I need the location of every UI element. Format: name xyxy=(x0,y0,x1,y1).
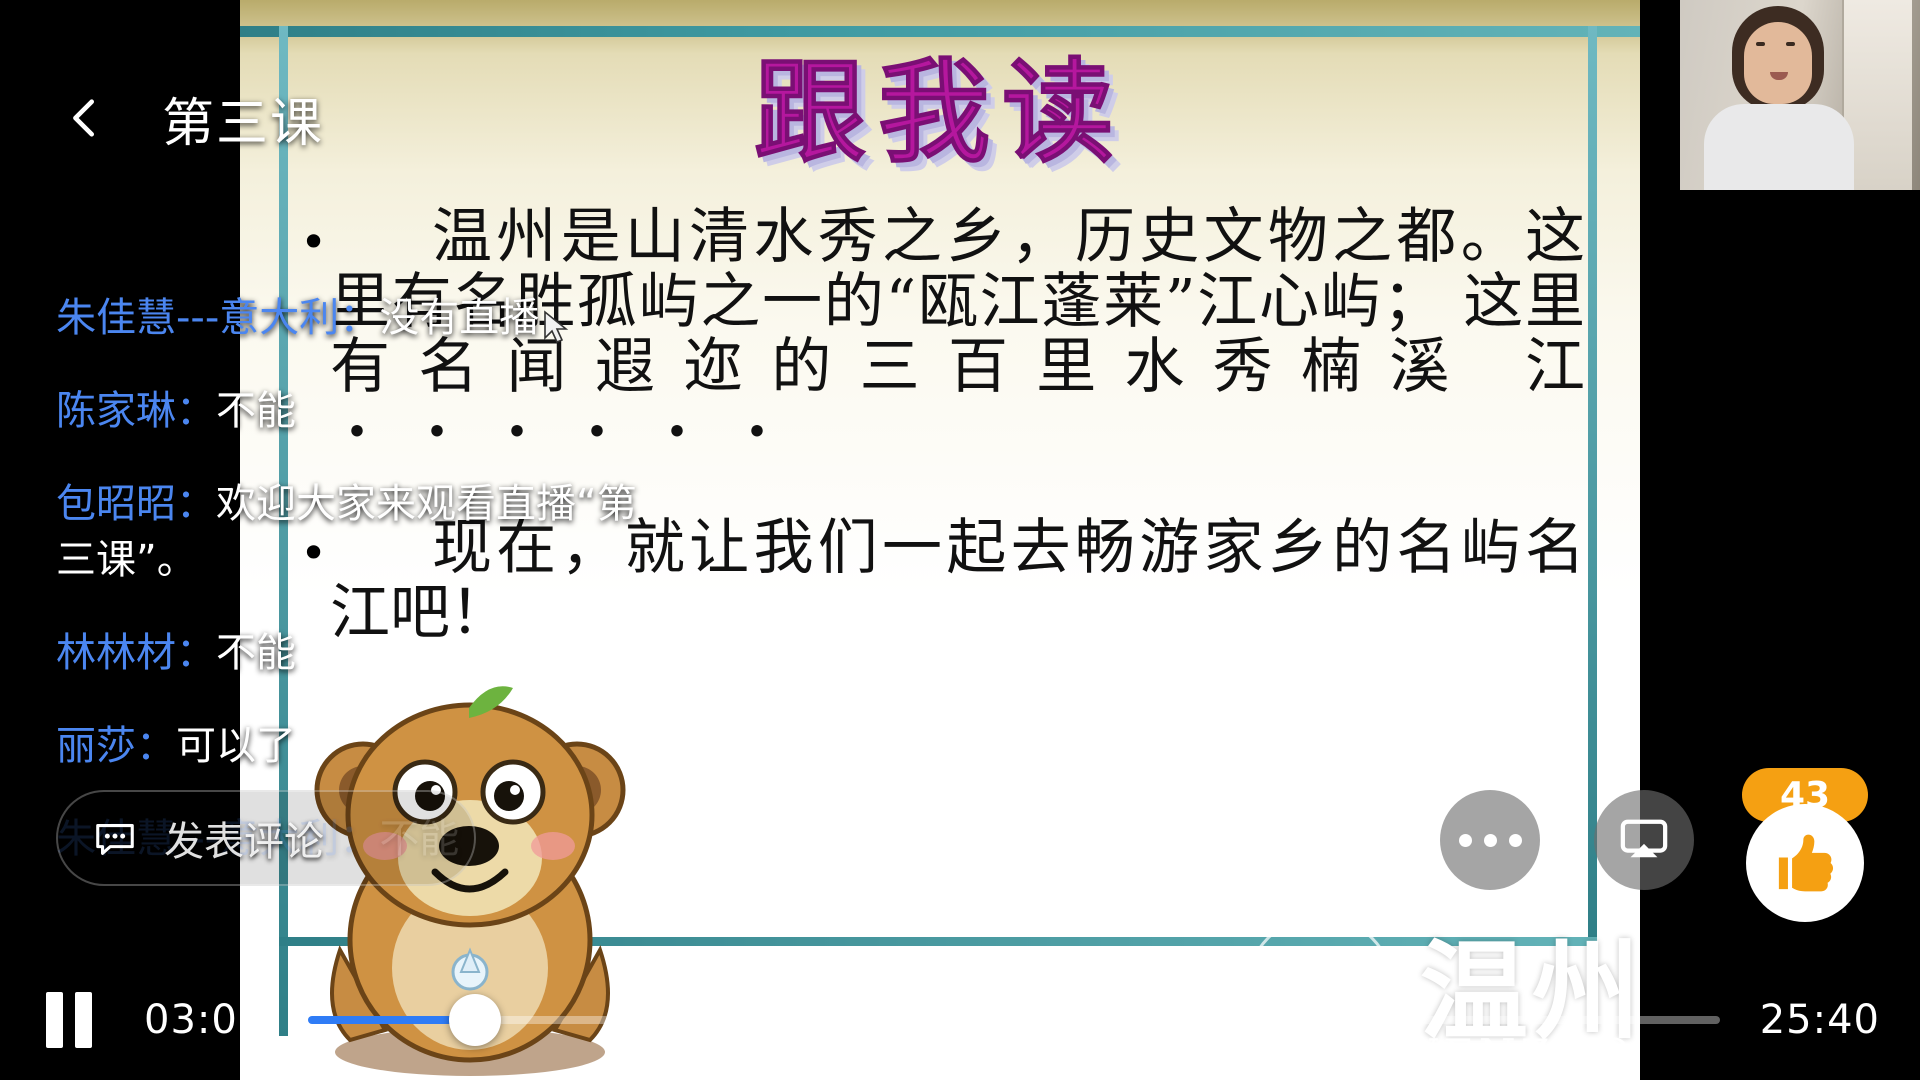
comment-bubble-icon xyxy=(92,815,138,861)
chat-text: 可以了 xyxy=(176,723,296,769)
more-options-button[interactable] xyxy=(1440,790,1540,890)
player-controls: 03:02 25:40 xyxy=(0,960,1920,1080)
webcam-person-body xyxy=(1704,104,1854,190)
chat-text: 没有直播 xyxy=(379,295,539,341)
teacher-webcam-pip[interactable] xyxy=(1680,0,1920,190)
chat-username: 丽莎 xyxy=(56,723,136,769)
like-button[interactable] xyxy=(1746,804,1864,922)
more-horizontal-icon xyxy=(1459,834,1522,847)
chat-message: 陈家琳：不能 xyxy=(0,383,660,440)
pause-button[interactable] xyxy=(46,992,100,1048)
chevron-left-icon xyxy=(62,95,108,141)
webcam-person-face xyxy=(1744,22,1812,104)
top-navigation-bar: 第三课 xyxy=(0,58,620,178)
comment-placeholder: 发表评论 xyxy=(164,809,324,867)
chat-username: 包昭昭 xyxy=(56,481,176,527)
slide-line-4: 江 xyxy=(1525,332,1585,402)
chat-separator: ： xyxy=(339,295,379,341)
progress-bar[interactable] xyxy=(308,1016,1719,1024)
slide-frame-bottom xyxy=(279,937,1597,946)
chat-text: 不能 xyxy=(216,630,296,676)
webcam-person-eye-right xyxy=(1786,42,1795,46)
chat-message: 丽莎：可以了 xyxy=(0,718,660,775)
chat-username: 朱佳慧---意大利 xyxy=(56,295,339,341)
airplay-icon xyxy=(1619,818,1669,862)
back-button[interactable] xyxy=(42,75,128,161)
chat-separator: ： xyxy=(176,630,216,676)
chat-separator: ： xyxy=(136,723,176,769)
live-player-screen: 跟我读 • 温州是山清水秀之乡，历史文物之都。这 里有名胜孤屿之一的“瓯江蓬莱”… xyxy=(0,0,1920,1080)
chat-message: 林林材：不能 xyxy=(0,625,660,682)
bullet-marker-icon: • xyxy=(300,205,330,273)
chat-separator: ： xyxy=(176,481,216,527)
chat-username: 林林材 xyxy=(56,630,176,676)
chat-message: 包昭昭：欢迎大家来观看直播“第三课”。 xyxy=(0,476,660,590)
pause-icon-bar-right xyxy=(75,992,92,1048)
progress-bar-handle[interactable] xyxy=(449,994,501,1046)
pause-icon-bar-left xyxy=(46,992,63,1048)
chat-username: 陈家琳 xyxy=(56,388,176,434)
chat-text: 不能 xyxy=(216,388,296,434)
page-title: 第三课 xyxy=(162,81,324,156)
thumbs-up-icon xyxy=(1772,830,1838,896)
comment-input[interactable]: 发表评论 xyxy=(56,790,476,886)
cast-button[interactable] xyxy=(1594,790,1694,890)
duration-label: 25:40 xyxy=(1760,997,1880,1043)
slide-line-1: 温州是山清水秀之乡，历史文物之都。这 xyxy=(432,202,1585,272)
webcam-person-eye-left xyxy=(1756,42,1765,46)
mouse-cursor xyxy=(543,310,573,350)
current-time-label: 03:02 xyxy=(144,997,264,1043)
chat-separator: ： xyxy=(176,388,216,434)
like-control[interactable]: 43 xyxy=(1728,768,1898,948)
